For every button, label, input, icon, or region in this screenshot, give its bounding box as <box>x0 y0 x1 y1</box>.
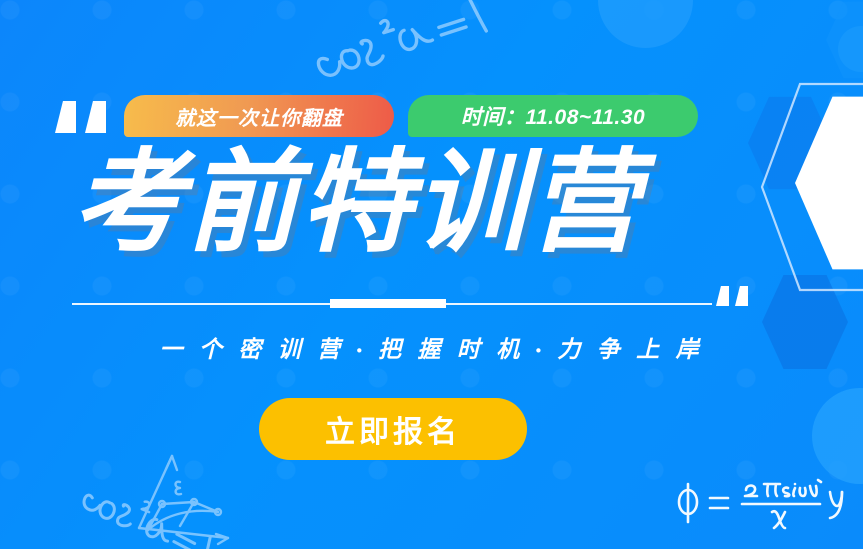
promo-banner: 就这一次让你翻盘 时间：11.08~11.30 考前特训营 一 个 密 训 营 … <box>0 0 863 549</box>
pill-row: 就这一次让你翻盘 时间：11.08~11.30 <box>124 95 698 137</box>
subtitle-part-1: 一 个 密 训 营 <box>160 336 346 362</box>
subtitle: 一 个 密 训 营 • 把 握 时 机 • 力 争 上 岸 <box>0 330 863 364</box>
subtitle-separator-1: • <box>356 342 366 359</box>
subtitle-part-3: 力 争 上 岸 <box>557 336 703 362</box>
divider <box>72 299 712 308</box>
subtitle-separator-2: • <box>536 342 546 359</box>
quote-mark-close-icon <box>716 286 748 306</box>
date-pill: 时间：11.08~11.30 <box>408 95 698 137</box>
divider-bar <box>330 299 446 308</box>
promo-pill: 就这一次让你翻盘 <box>124 95 394 137</box>
quote-mark-open-icon <box>55 101 106 133</box>
subtitle-part-2: 把 握 时 机 <box>378 336 524 362</box>
signup-button[interactable]: 立即报名 <box>259 398 527 460</box>
banner-content: 就这一次让你翻盘 时间：11.08~11.30 考前特训营 一 个 密 训 营 … <box>0 0 863 549</box>
page-title: 考前特训营 <box>72 140 732 265</box>
